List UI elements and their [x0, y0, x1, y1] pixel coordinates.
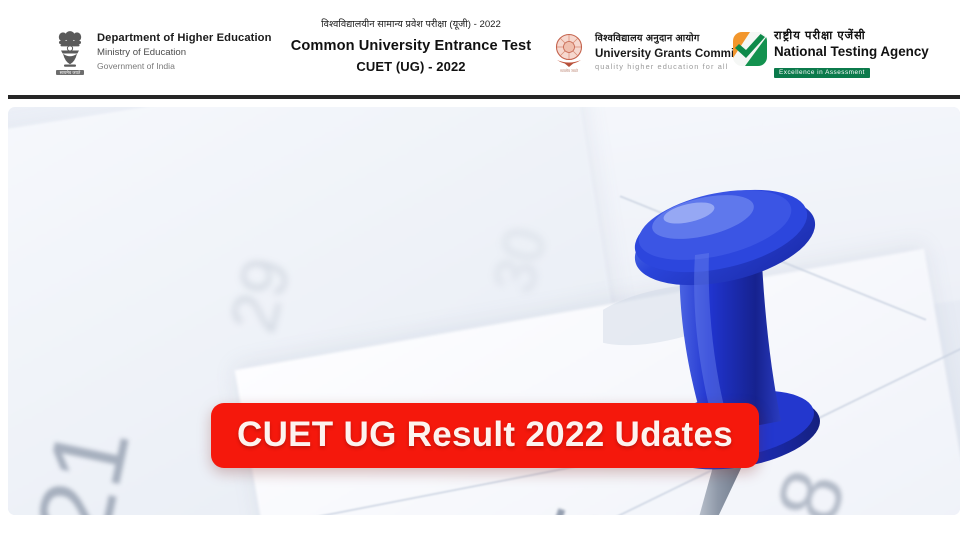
- nta-logo-block: राष्ट्रीय परीक्षा एजेंसी National Testin…: [733, 29, 929, 79]
- svg-text:सत्यमेव जयते: सत्यमेव जयते: [60, 70, 81, 75]
- ashoka-emblem-icon: सत्यमेव जयते: [52, 26, 88, 82]
- headline-badge: CUET UG Result 2022 Udates: [211, 403, 759, 468]
- department-text-block: Department of Higher Education Ministry …: [97, 26, 272, 72]
- nta-english-name: National Testing Agency: [774, 44, 929, 61]
- cuet-title-block: विश्वविद्यालयीन सामान्य प्रवेश परीक्षा (…: [286, 18, 536, 74]
- ministry-name: Ministry of Education: [97, 46, 272, 60]
- result-banner: 29 30 22 21 15 8: [8, 107, 960, 515]
- page-header: सत्यमेव जयते Department of Higher Educat…: [0, 0, 968, 96]
- cuet-english-title: Common University Entrance Test: [286, 38, 536, 54]
- department-name: Department of Higher Education: [97, 31, 272, 45]
- ugc-emblem-icon: सत्यमेव जयते: [549, 30, 589, 74]
- banner-background-image: 29 30 22 21 15 8: [8, 107, 960, 515]
- svg-text:सत्यमेव जयते: सत्यमेव जयते: [560, 68, 579, 73]
- nta-tagline: Excellence in Assessment: [774, 68, 870, 78]
- nta-hindi-name: राष्ट्रीय परीक्षा एजेंसी: [774, 29, 929, 43]
- headline-text: CUET UG Result 2022 Udates: [237, 417, 733, 452]
- cuet-hindi-title: विश्वविद्यालयीन सामान्य प्रवेश परीक्षा (…: [286, 18, 536, 31]
- government-name: Government of India: [97, 60, 272, 72]
- nta-text-block: राष्ट्रीय परीक्षा एजेंसी National Testin…: [774, 29, 929, 79]
- header-divider: [8, 95, 960, 99]
- department-identity: सत्यमेव जयते Department of Higher Educat…: [52, 26, 272, 82]
- nta-checkmark-tricolor-icon: [733, 32, 767, 66]
- cuet-subtitle: CUET (UG) - 2022: [286, 59, 536, 74]
